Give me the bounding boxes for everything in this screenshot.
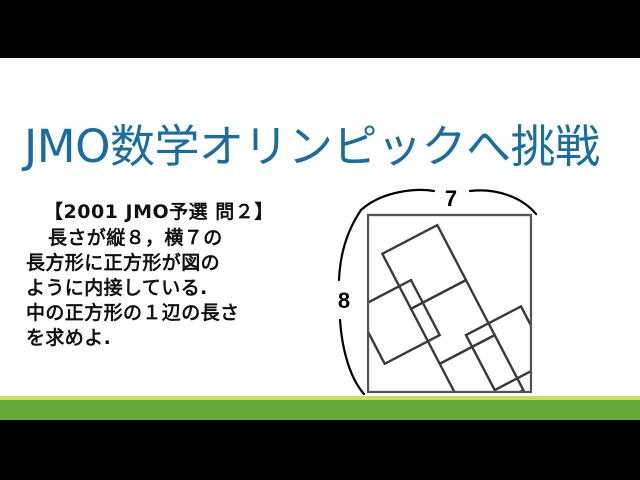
problem-line-4: 中の正方形の１辺の長さ bbox=[26, 301, 326, 326]
letterbox-top bbox=[0, 0, 640, 58]
outer-rectangle bbox=[368, 215, 531, 392]
problem-heading: 【2001 JMO予選 問２】 bbox=[44, 197, 274, 224]
problem-line-3: ように内接している. bbox=[26, 276, 326, 301]
geometry-figure-svg: 7 8 bbox=[330, 184, 620, 404]
problem-body: 長さが縦８，横７の 長方形に正方形が図の ように内接している. 中の正方形の１辺… bbox=[26, 226, 326, 351]
width-brace-left bbox=[361, 190, 434, 210]
page-title: JMO数学オリンピックへ挑戦 bbox=[24, 121, 630, 173]
width-brace-right bbox=[470, 190, 536, 214]
slide-screen: JMO数学オリンピックへ挑戦 【2001 JMO予選 問２】 長さが縦８，横７の… bbox=[0, 0, 640, 480]
accent-bar bbox=[0, 400, 640, 420]
letterbox-bottom bbox=[0, 420, 640, 480]
geometry-figure: 7 8 bbox=[330, 184, 620, 404]
problem-line-1: 長さが縦８，横７の bbox=[26, 226, 326, 251]
problem-line-2: 長方形に正方形が図の bbox=[26, 251, 326, 276]
height-label: 8 bbox=[338, 288, 350, 313]
width-label: 7 bbox=[445, 186, 457, 211]
figure-mask-right bbox=[532, 184, 620, 404]
slide-canvas: JMO数学オリンピックへ挑戦 【2001 JMO予選 問２】 長さが縦８，横７の… bbox=[0, 58, 640, 398]
problem-line-5: を求めよ. bbox=[26, 326, 326, 351]
